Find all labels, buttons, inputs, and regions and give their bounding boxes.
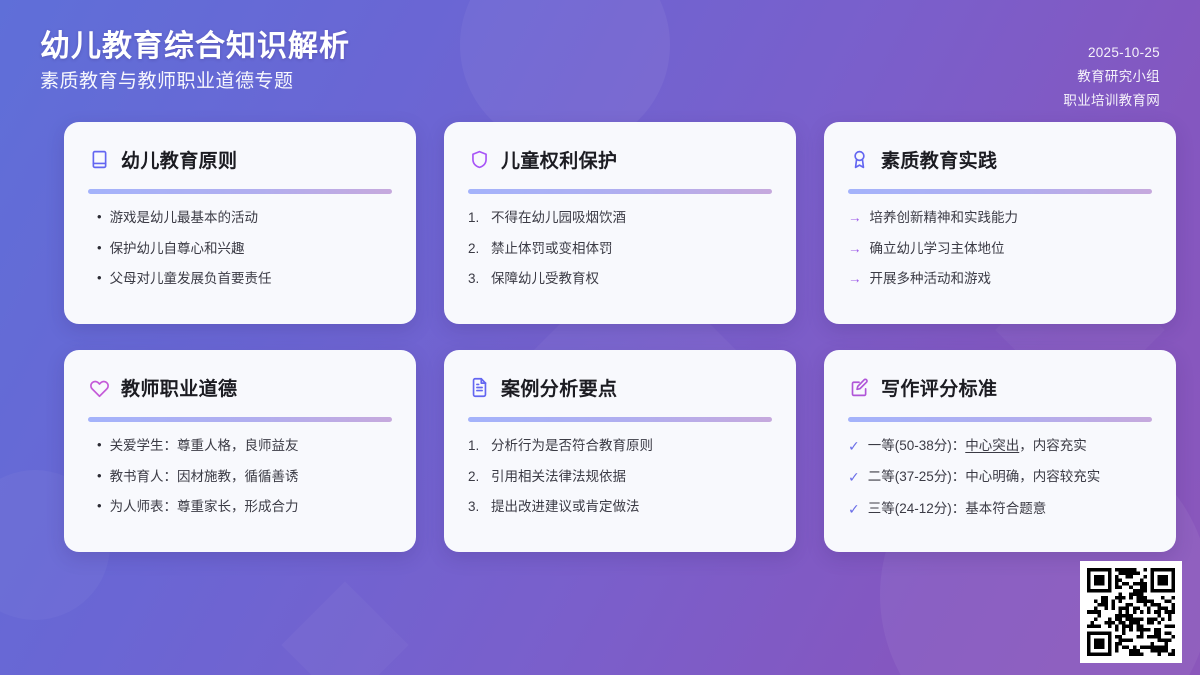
qr-code[interactable] xyxy=(1080,561,1182,663)
list-item-text: 保护幼儿自尊心和兴趣 xyxy=(110,239,245,259)
list-marker-arrow: → xyxy=(848,269,862,289)
list-item-text: 教书育人：因材施教，循循善诱 xyxy=(110,467,299,487)
card-ertong-quanli-baohu[interactable]: 儿童权利保护1.不得在幼儿园吸烟饮酒2.禁止体罚或变相体罚3.保障幼儿受教育权 xyxy=(444,122,796,324)
list-item: •游戏是幼儿最基本的活动 xyxy=(88,208,392,228)
card-title: 幼儿教育原则 xyxy=(121,146,237,173)
list-item-text: 引用相关法律法规依据 xyxy=(491,467,626,487)
card-header: 素质教育实践 xyxy=(848,144,1152,174)
list-item: ✓三等(24-12分)：基本符合题意 xyxy=(848,499,1152,519)
list-marker-dot: • xyxy=(88,208,102,227)
list-item: ✓一等(50-38分)：中心突出，内容充实 xyxy=(848,436,1152,456)
list-marker-check: ✓ xyxy=(848,436,860,456)
list-item-text: 保障幼儿受教育权 xyxy=(491,269,599,289)
list-item: 3.提出改进建议或肯定做法 xyxy=(468,497,772,517)
list-item: 3.保障幼儿受教育权 xyxy=(468,269,772,289)
list-marker-number: 2. xyxy=(468,239,483,259)
card-item-list: 1.分析行为是否符合教育原则2.引用相关法律法规依据3.提出改进建议或肯定做法 xyxy=(468,436,772,517)
list-item-text: 禁止体罚或变相体罚 xyxy=(491,239,613,259)
card-title: 写作评分标准 xyxy=(881,374,997,401)
list-item: ✓二等(37-25分)：中心明确，内容较充实 xyxy=(848,467,1152,487)
list-marker-dot: • xyxy=(88,269,102,288)
item-text-lead: 一等(50-38分)： xyxy=(868,438,966,453)
card-suzhi-jiaoyu-shijian[interactable]: 素质教育实践→培养创新精神和实践能力→确立幼儿学习主体地位→开展多种活动和游戏 xyxy=(824,122,1176,324)
list-item: →培养创新精神和实践能力 xyxy=(848,208,1152,228)
list-item: 2.禁止体罚或变相体罚 xyxy=(468,239,772,259)
list-item-text: 确立幼儿学习主体地位 xyxy=(870,239,1005,259)
book-icon xyxy=(88,148,110,170)
card-title: 素质教育实践 xyxy=(881,146,997,173)
item-text-emphasis: 中心突出 xyxy=(965,438,1019,453)
card-jiaoshi-zhiye-daode[interactable]: 教师职业道德•关爱学生：尊重人格，良师益友•教书育人：因材施教，循循善诱•为人师… xyxy=(64,350,416,552)
card-title: 教师职业道德 xyxy=(121,374,237,401)
list-item-text: 游戏是幼儿最基本的活动 xyxy=(110,208,259,228)
list-marker-dot: • xyxy=(88,239,102,258)
list-item-text: 三等(24-12分)：基本符合题意 xyxy=(868,499,1047,519)
list-item: 1.分析行为是否符合教育原则 xyxy=(468,436,772,456)
list-item: •为人师表：尊重家长，形成合力 xyxy=(88,497,392,517)
list-marker-number: 3. xyxy=(468,497,483,517)
card-header: 儿童权利保护 xyxy=(468,144,772,174)
card-item-list: →培养创新精神和实践能力→确立幼儿学习主体地位→开展多种活动和游戏 xyxy=(848,208,1152,289)
card-divider xyxy=(848,189,1152,194)
card-header: 教师职业道德 xyxy=(88,372,392,402)
award-icon xyxy=(848,148,870,170)
list-item-text: 开展多种活动和游戏 xyxy=(870,269,992,289)
card-youer-jiaoyu-yuanze[interactable]: 幼儿教育原则•游戏是幼儿最基本的活动•保护幼儿自尊心和兴趣•父母对儿童发展负首要… xyxy=(64,122,416,324)
list-item-text: 父母对儿童发展负首要责任 xyxy=(110,269,272,289)
shield-icon xyxy=(468,148,490,170)
page-title: 幼儿教育综合知识解析 xyxy=(40,30,350,65)
list-item-text: 提出改进建议或肯定做法 xyxy=(491,497,640,517)
card-header: 幼儿教育原则 xyxy=(88,144,392,174)
list-marker-dot: • xyxy=(88,497,102,516)
card-anli-fenxi-yaodian[interactable]: 案例分析要点1.分析行为是否符合教育原则2.引用相关法律法规依据3.提出改进建议… xyxy=(444,350,796,552)
card-item-list: 1.不得在幼儿园吸烟饮酒2.禁止体罚或变相体罚3.保障幼儿受教育权 xyxy=(468,208,772,289)
card-item-list: ✓一等(50-38分)：中心突出，内容充实✓二等(37-25分)：中心明确，内容… xyxy=(848,436,1152,519)
list-marker-check: ✓ xyxy=(848,499,860,519)
list-item: 2.引用相关法律法规依据 xyxy=(468,467,772,487)
list-item-text: 培养创新精神和实践能力 xyxy=(870,208,1019,228)
list-marker-arrow: → xyxy=(848,239,862,259)
document-icon xyxy=(468,376,490,398)
card-header: 案例分析要点 xyxy=(468,372,772,402)
header-titles: 幼儿教育综合知识解析 素质教育与教师职业道德专题 xyxy=(40,30,350,93)
list-item-text: 一等(50-38分)：中心突出，内容充实 xyxy=(868,436,1087,456)
header-meta: 2025-10-25 教育研究小组 职业培训教育网 xyxy=(1063,30,1160,112)
card-grid: 幼儿教育原则•游戏是幼儿最基本的活动•保护幼儿自尊心和兴趣•父母对儿童发展负首要… xyxy=(64,122,1136,552)
card-title: 儿童权利保护 xyxy=(501,146,617,173)
card-item-list: •游戏是幼儿最基本的活动•保护幼儿自尊心和兴趣•父母对儿童发展负首要责任 xyxy=(88,208,392,289)
card-divider xyxy=(848,417,1152,422)
edit-square-icon xyxy=(848,376,870,398)
list-marker-number: 3. xyxy=(468,269,483,289)
page-subtitle: 素质教育与教师职业道德专题 xyxy=(40,71,350,94)
header-org: 教育研究小组 xyxy=(1063,67,1160,88)
list-marker-number: 1. xyxy=(468,436,483,456)
slide-header: 幼儿教育综合知识解析 素质教育与教师职业道德专题 2025-10-25 教育研究… xyxy=(0,0,1200,120)
heart-icon xyxy=(88,376,110,398)
list-item: •关爱学生：尊重人格，良师益友 xyxy=(88,436,392,456)
list-item-text: 不得在幼儿园吸烟饮酒 xyxy=(491,208,626,228)
list-item: →确立幼儿学习主体地位 xyxy=(848,239,1152,259)
card-divider xyxy=(88,417,392,422)
card-title: 案例分析要点 xyxy=(501,374,617,401)
card-divider xyxy=(468,189,772,194)
header-date: 2025-10-25 xyxy=(1063,43,1160,64)
list-item: •保护幼儿自尊心和兴趣 xyxy=(88,239,392,259)
qr-code-image xyxy=(1087,568,1175,656)
list-item-text: 为人师表：尊重家长，形成合力 xyxy=(110,497,299,517)
card-header: 写作评分标准 xyxy=(848,372,1152,402)
list-item-text: 二等(37-25分)：中心明确，内容较充实 xyxy=(868,467,1101,487)
list-item: →开展多种活动和游戏 xyxy=(848,269,1152,289)
list-marker-dot: • xyxy=(88,436,102,455)
list-marker-check: ✓ xyxy=(848,467,860,487)
header-site: 职业培训教育网 xyxy=(1063,91,1160,112)
card-item-list: •关爱学生：尊重人格，良师益友•教书育人：因材施教，循循善诱•为人师表：尊重家长… xyxy=(88,436,392,517)
card-xiezuo-pingfen-biaozhun[interactable]: 写作评分标准✓一等(50-38分)：中心突出，内容充实✓二等(37-25分)：中… xyxy=(824,350,1176,552)
item-text-tail: ，内容充实 xyxy=(1019,438,1087,453)
list-item: •教书育人：因材施教，循循善诱 xyxy=(88,467,392,487)
slide-canvas: 幼儿教育综合知识解析 素质教育与教师职业道德专题 2025-10-25 教育研究… xyxy=(0,0,1200,675)
list-marker-arrow: → xyxy=(848,208,862,228)
decorative-diamond xyxy=(281,581,408,675)
list-marker-number: 1. xyxy=(468,208,483,228)
list-marker-number: 2. xyxy=(468,467,483,487)
list-marker-dot: • xyxy=(88,467,102,486)
list-item-text: 关爱学生：尊重人格，良师益友 xyxy=(110,436,299,456)
list-item-text: 分析行为是否符合教育原则 xyxy=(491,436,653,456)
list-item: 1.不得在幼儿园吸烟饮酒 xyxy=(468,208,772,228)
card-divider xyxy=(468,417,772,422)
list-item: •父母对儿童发展负首要责任 xyxy=(88,269,392,289)
card-divider xyxy=(88,189,392,194)
